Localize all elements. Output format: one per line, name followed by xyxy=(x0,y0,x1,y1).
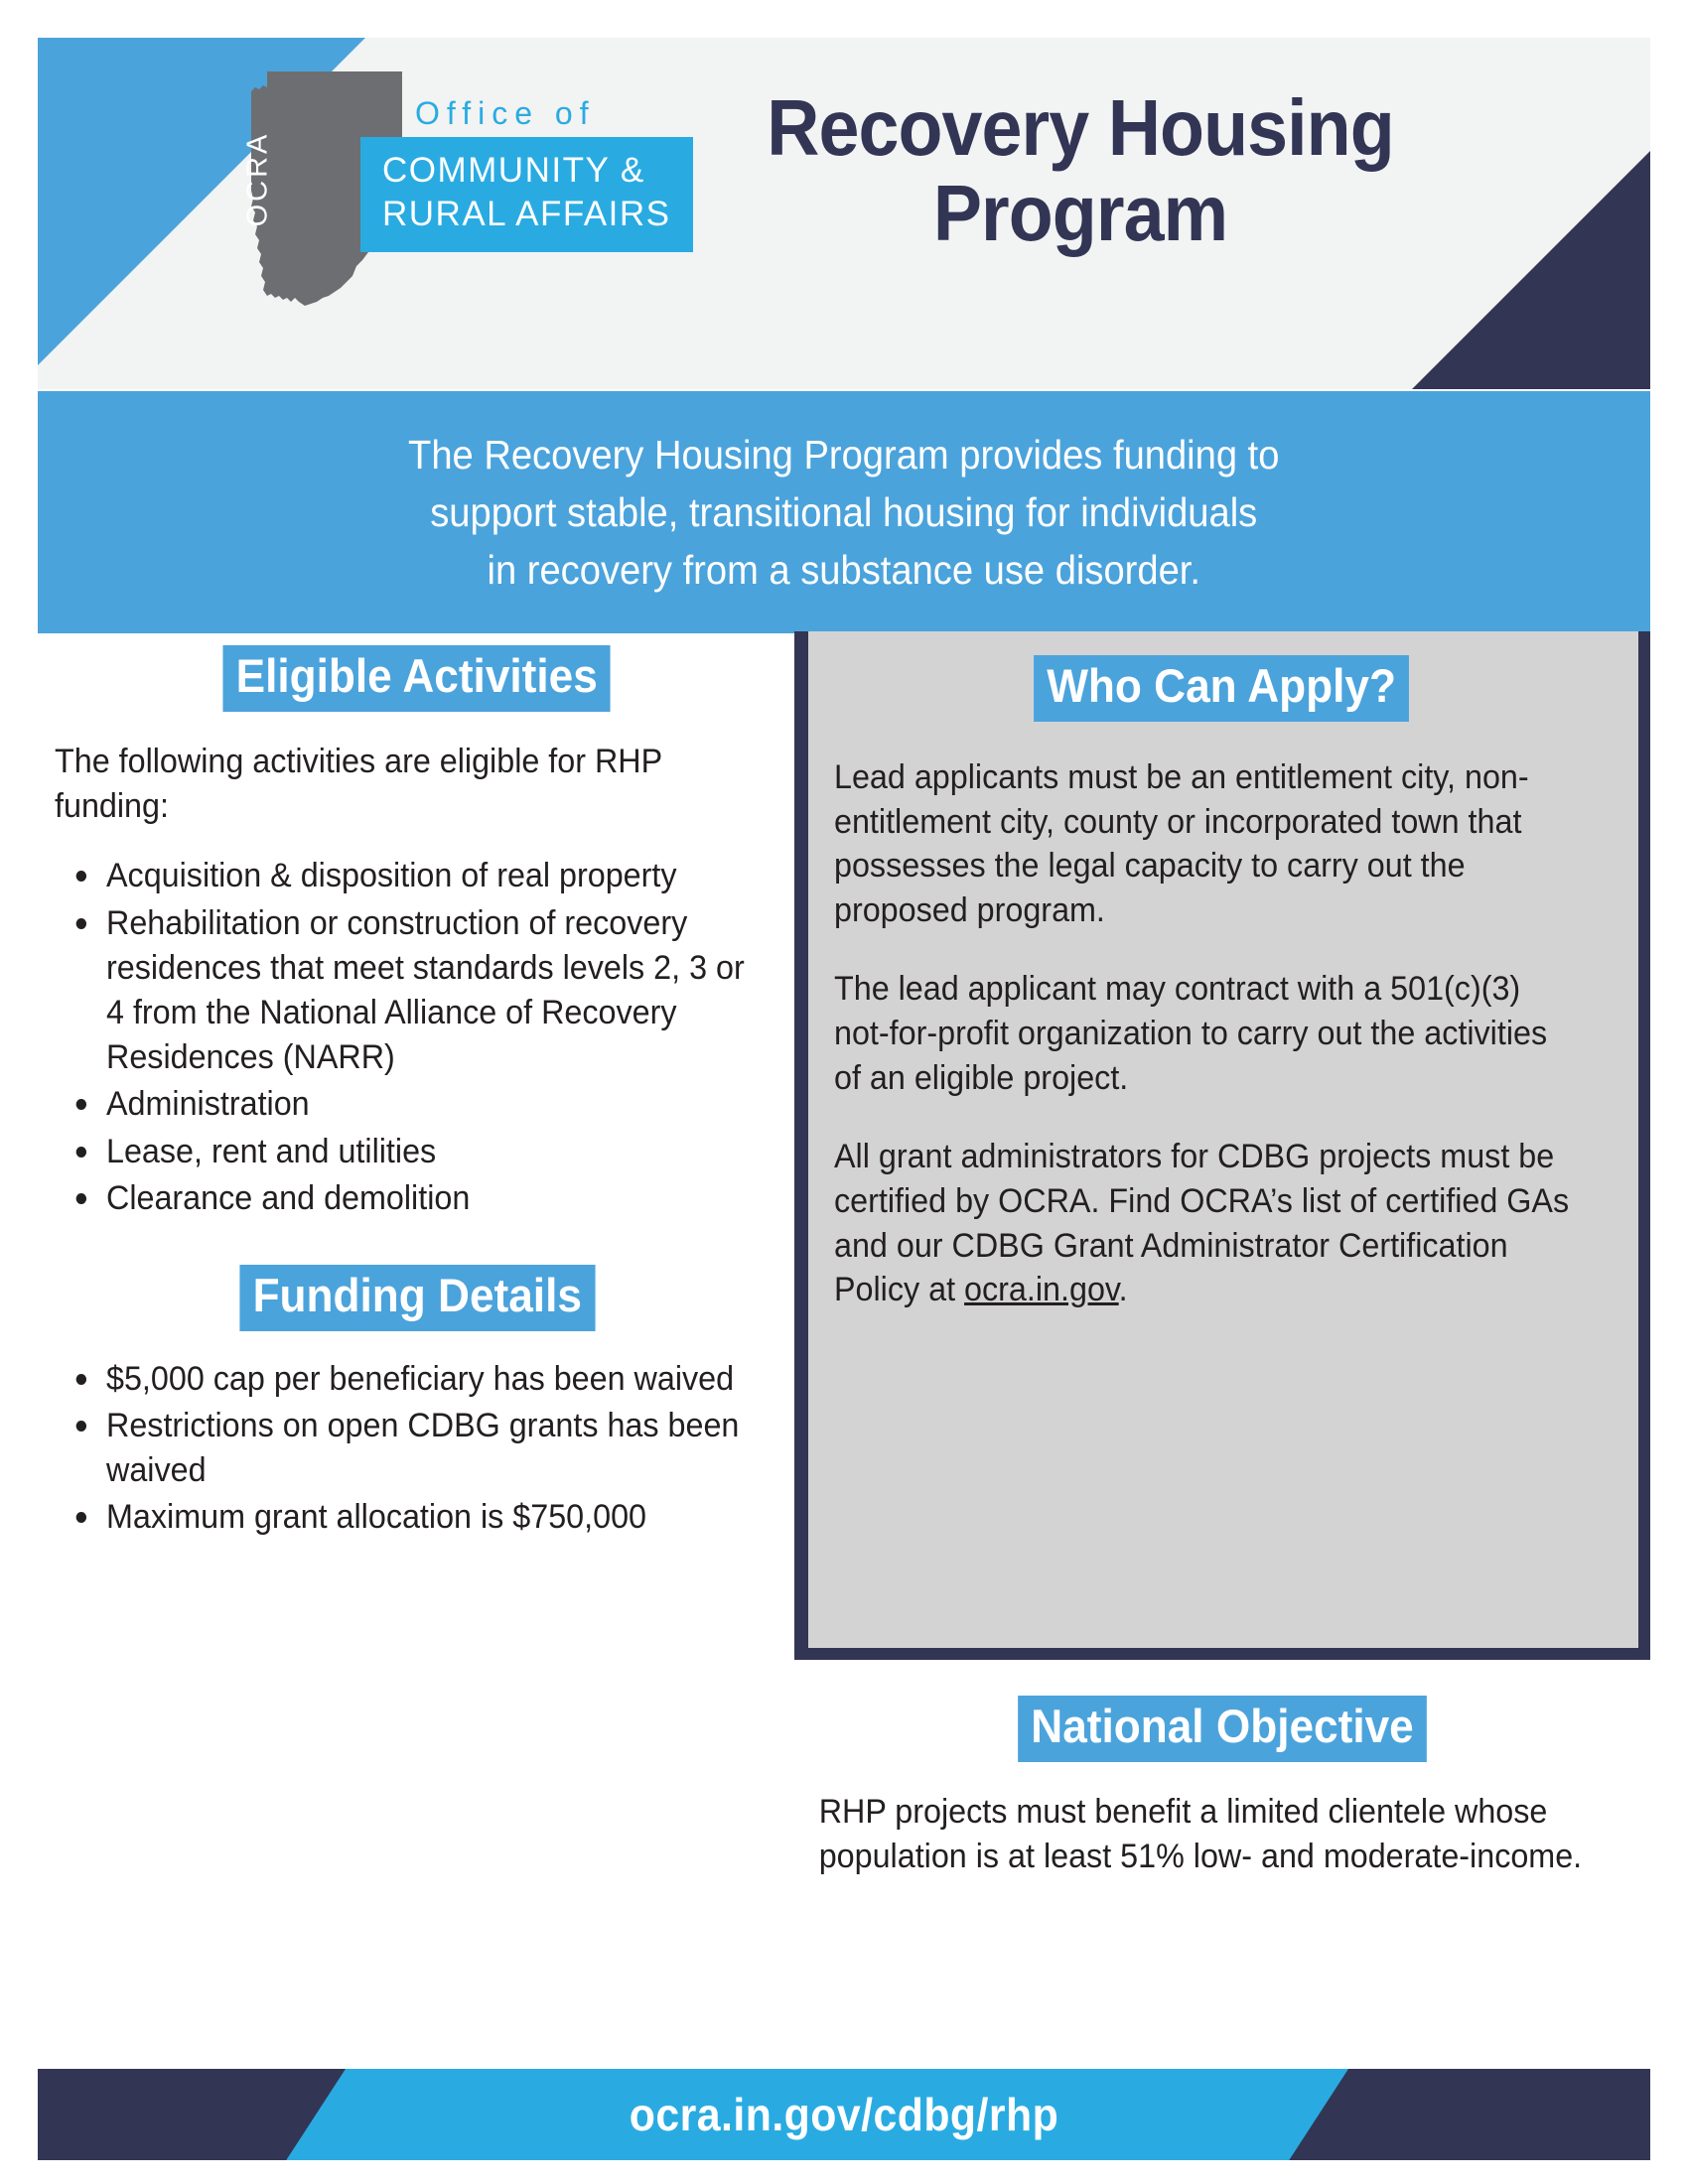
who-can-apply-paragraph-3: All grant administrators for CDBG projec… xyxy=(834,1135,1570,1313)
ocra-website-link[interactable]: ocra.in.gov xyxy=(964,1271,1119,1308)
list-item: Acquisition & disposition of real proper… xyxy=(106,854,746,898)
who-can-apply-content: Who Can Apply? Lead applicants must be a… xyxy=(808,631,1638,1312)
badge-line-community: COMMUNITY & xyxy=(382,149,671,193)
who-can-apply-panel: Who Can Apply? Lead applicants must be a… xyxy=(794,631,1650,1660)
program-summary-text: The Recovery Housing Program provides fu… xyxy=(408,426,1279,600)
section-national-objective: National Objective RHP projects must ben… xyxy=(794,1678,1650,1878)
community-rural-affairs-badge: COMMUNITY & RURAL AFFAIRS xyxy=(360,137,693,252)
footer-url[interactable]: ocra.in.gov/cdbg/rhp xyxy=(94,2069,1594,2160)
national-objective-heading: National Objective xyxy=(1018,1696,1427,1762)
flyer-page: OCRA Office of COMMUNITY & RURAL AFFAIRS… xyxy=(0,0,1688,2184)
section-funding-details: Funding Details $5,000 cap per beneficia… xyxy=(55,1265,779,1541)
ocra-vertical-label: OCRA xyxy=(242,115,275,244)
list-item: Administration xyxy=(106,1082,746,1127)
office-of-label: Office of xyxy=(415,95,596,132)
program-summary-banner: The Recovery Housing Program provides fu… xyxy=(38,391,1650,633)
funding-details-heading: Funding Details xyxy=(239,1265,595,1331)
who-can-apply-paragraph-2: The lead applicant may contract with a 5… xyxy=(834,967,1570,1101)
badge-line-rural-affairs: RURAL AFFAIRS xyxy=(382,193,671,236)
national-objective-heading-wrap: National Objective xyxy=(794,1696,1650,1762)
eligible-activities-list: Acquisition & disposition of real proper… xyxy=(55,854,779,1221)
who-can-apply-heading-wrap: Who Can Apply? xyxy=(834,655,1609,722)
ocra-logo: OCRA Office of COMMUNITY & RURAL AFFAIRS xyxy=(211,56,748,353)
paragraph-3-text-before-link: All grant administrators for CDBG projec… xyxy=(834,1138,1569,1309)
list-item: Restrictions on open CDBG grants has bee… xyxy=(106,1404,746,1493)
national-objective-body: RHP projects must benefit a limited clie… xyxy=(794,1790,1608,1879)
eligible-activities-intro: The following activities are eligible fo… xyxy=(55,740,744,829)
funding-details-heading-wrap: Funding Details xyxy=(55,1265,779,1331)
footer: ocra.in.gov/cdbg/rhp xyxy=(38,2069,1650,2160)
list-item: Clearance and demolition xyxy=(106,1176,746,1221)
header: OCRA Office of COMMUNITY & RURAL AFFAIRS… xyxy=(38,38,1650,389)
page-title: Recovery Housing Program xyxy=(706,85,1455,257)
list-item: $5,000 cap per beneficiary has been waiv… xyxy=(106,1357,746,1402)
list-item: Rehabilitation or construction of recove… xyxy=(106,901,746,1081)
funding-details-list: $5,000 cap per beneficiary has been waiv… xyxy=(55,1357,779,1541)
eligible-activities-heading-wrap: Eligible Activities xyxy=(55,645,779,712)
list-item: Maximum grant allocation is $750,000 xyxy=(106,1495,746,1540)
paragraph-3-text-after-link: . xyxy=(1119,1271,1128,1308)
list-item: Lease, rent and utilities xyxy=(106,1130,746,1174)
who-can-apply-paragraph-1: Lead applicants must be an entitlement c… xyxy=(834,755,1570,934)
eligible-activities-heading: Eligible Activities xyxy=(223,645,612,712)
who-can-apply-heading: Who Can Apply? xyxy=(1034,655,1409,722)
left-column: Eligible Activities The following activi… xyxy=(55,645,779,1543)
section-eligible-activities: Eligible Activities The following activi… xyxy=(55,645,779,1221)
